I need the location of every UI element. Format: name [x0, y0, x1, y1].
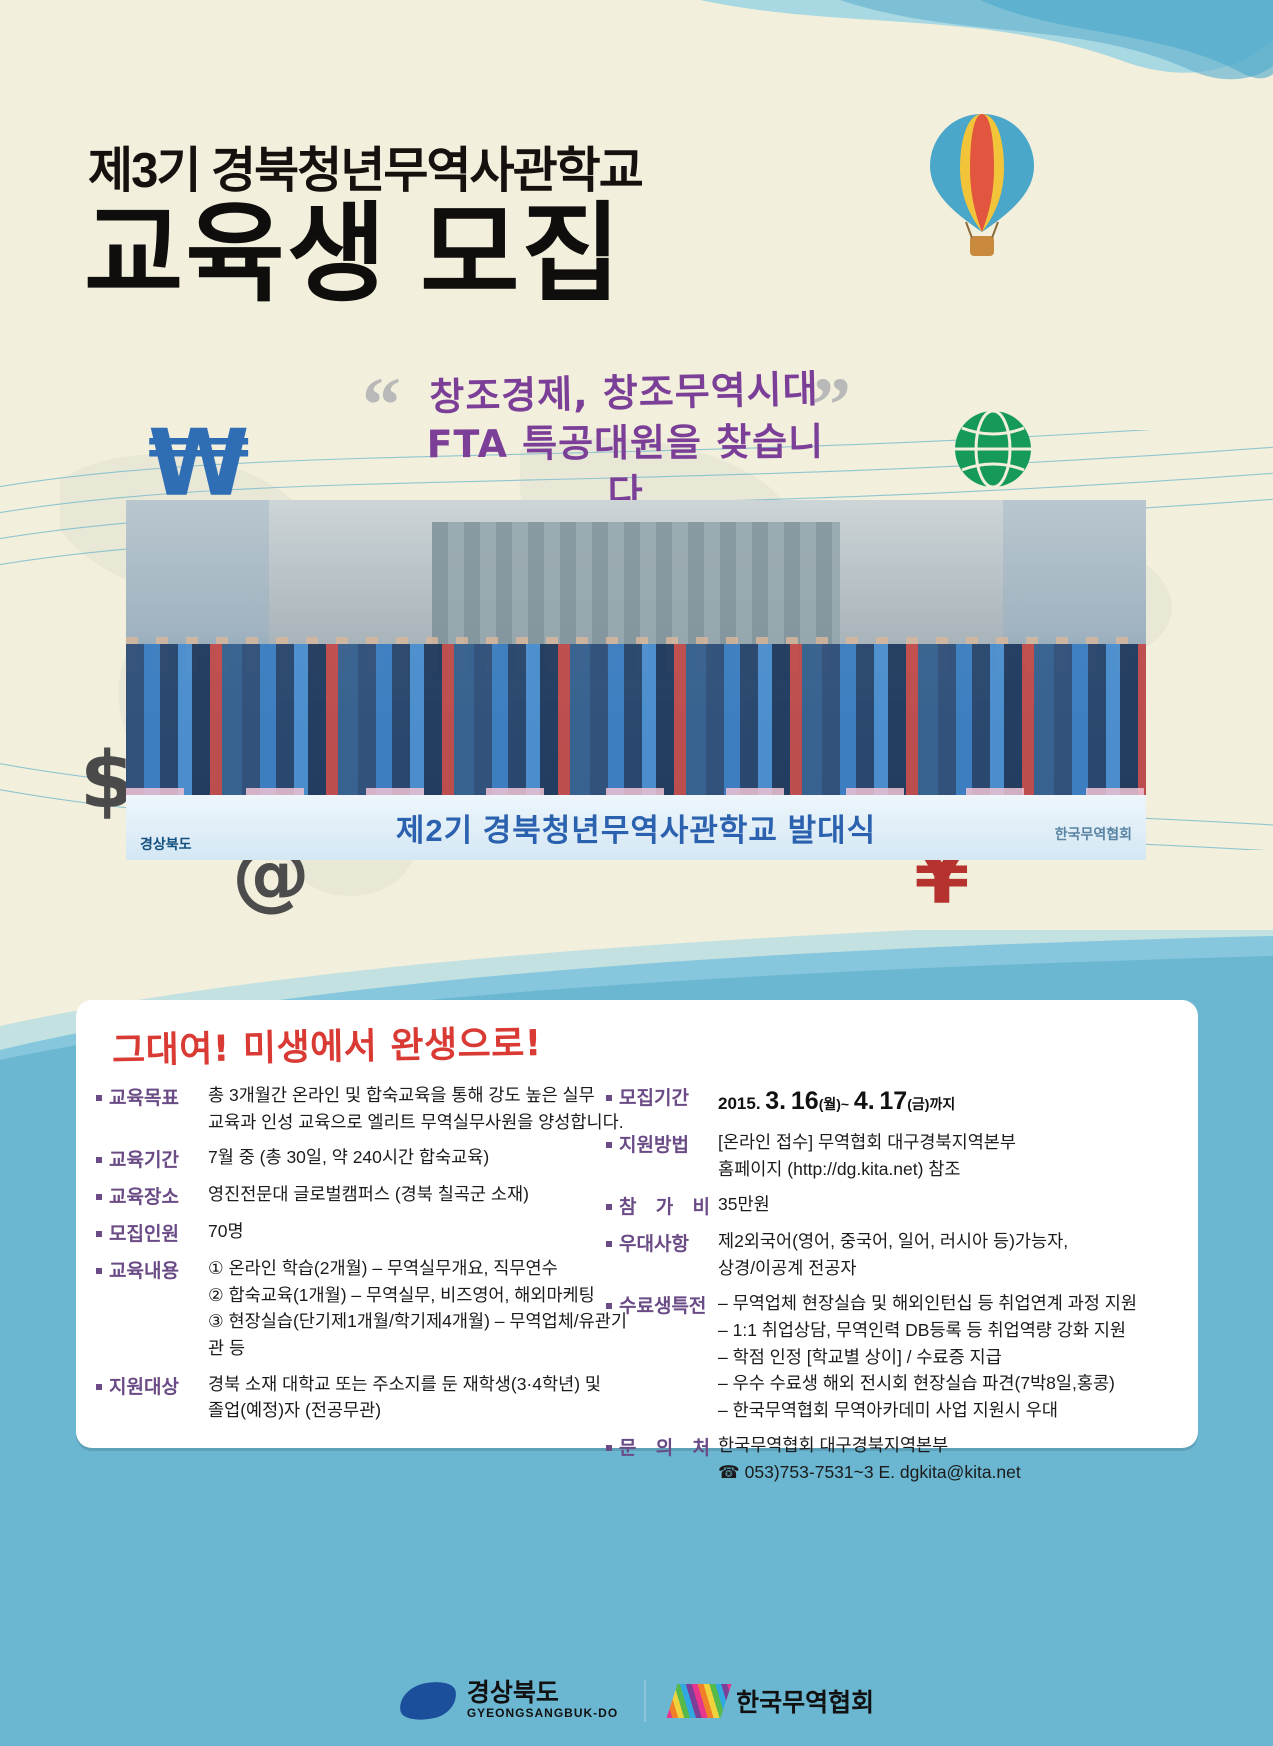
apply-homepage-link[interactable]: 홈페이지 (http://dg.kita.net) 참조 — [718, 1156, 1198, 1183]
info-body-goal: 총 3개월간 온라인 및 합숙교육을 통해 강도 높은 실무 교육과 인성 교육… — [208, 1082, 636, 1135]
info-body-period: 2015. 3. 16(월)~ 4. 17(금)까지 — [718, 1082, 1198, 1120]
info-body-duration: 7월 중 (총 30일, 약 240시간 합숙교육) — [208, 1144, 636, 1172]
bullet-icon — [96, 1384, 102, 1390]
info-row-benefits: 수료생특전 – 무역업체 현장실습 및 해외인턴십 등 취업연계 과정 지원 –… — [606, 1290, 1198, 1423]
bullet-icon — [96, 1095, 102, 1101]
bullet-icon — [606, 1204, 612, 1210]
period-end-day: 17 — [879, 1087, 907, 1115]
info-row-headcount: 모집인원 70명 — [96, 1218, 636, 1246]
info-body-apply-method: [온라인 접수] 무역협회 대구경북지역본부 홈페이지 (http://dg.k… — [718, 1129, 1198, 1182]
info-label-preference: 우대사항 — [606, 1228, 718, 1281]
globe-icon — [952, 408, 1034, 490]
info-label-goal: 교육목표 — [96, 1082, 208, 1135]
bullet-icon — [96, 1157, 102, 1163]
info-body-fee: 35만원 — [718, 1191, 1198, 1219]
info-label-contact: 문 의 처 — [606, 1432, 718, 1485]
event-photo: 제2기 경북청년무역사관학교 발대식 경상북도 한국무역협회 — [126, 500, 1146, 860]
info-label-benefits: 수료생특전 — [606, 1290, 718, 1423]
photo-logo-kita: 한국무역협회 — [1055, 824, 1132, 844]
info-label-period: 모집기간 — [606, 1082, 718, 1120]
period-start-day: 16 — [791, 1087, 819, 1115]
info-label-curriculum: 교육내용 — [96, 1255, 208, 1361]
info-label-duration: 교육기간 — [96, 1144, 208, 1172]
swoosh-icon — [396, 1677, 460, 1724]
poster-tagline: 창조경제, 창조무역시대 FTA 특공대원을 찾습니다 — [413, 364, 836, 523]
info-card: 그대여! 미생에서 완생으로! 교육목표 총 3개월간 온라인 및 합숙교육을 … — [76, 1000, 1198, 1448]
period-end-month: 4. — [854, 1087, 875, 1115]
bullet-icon — [606, 1303, 612, 1309]
info-row-venue: 교육장소 영진전문대 글로벌캠퍼스 (경북 칠곡군 소재) — [96, 1181, 636, 1209]
bullet-icon — [96, 1231, 102, 1237]
poster-headline: 교육생 모집 — [84, 196, 623, 313]
info-body-benefits: – 무역업체 현장실습 및 해외인턴십 등 취업연계 과정 지원 – 1:1 취… — [718, 1290, 1198, 1423]
poster-root: 제3기 경북청년무역사관학교 교육생 모집 “ ” 창조경제, 창조무역시대 F… — [0, 0, 1273, 1746]
poster-kicker: 제3기 경북청년무역사관학교 — [88, 131, 642, 202]
info-row-preference: 우대사항 제2외국어(영어, 중국어, 일어, 러시아 등)가능자, 상경/이공… — [606, 1228, 1198, 1281]
info-row-contact: 문 의 처 한국무역협회 대구경북지역본부 ☎ 053)753-7531~3 E… — [606, 1432, 1198, 1485]
info-body-headcount: 70명 — [208, 1218, 636, 1246]
info-body-preference: 제2외국어(영어, 중국어, 일어, 러시아 등)가능자, 상경/이공계 전공자 — [718, 1228, 1198, 1281]
rainbow-stripes-icon — [667, 1684, 732, 1718]
bullet-icon — [606, 1241, 612, 1247]
bullet-icon — [606, 1095, 612, 1101]
info-row-curriculum: 교육내용 ① 온라인 학습(2개월) – 무역실무개요, 직무연수 ② 합숙교육… — [96, 1255, 636, 1361]
info-label-fee: 참 가 비 — [606, 1191, 718, 1219]
hot-air-balloon-icon — [922, 110, 1042, 270]
gyeongbuk-logo-kr: 경상북도 — [467, 1681, 618, 1706]
info-label-eligibility: 지원대상 — [96, 1371, 208, 1424]
info-right-column: 모집기간 2015. 3. 16(월)~ 4. 17(금)까지 지원방법 [온라… — [606, 1082, 1198, 1495]
bullet-icon — [96, 1268, 102, 1274]
photo-logo-gyeongbuk: 경상북도 — [140, 834, 192, 854]
bullet-icon — [606, 1445, 612, 1451]
info-label-apply-method: 지원방법 — [606, 1129, 718, 1182]
tagline-line-1: 창조경제, 창조무역시대 — [413, 364, 834, 423]
bullet-icon — [96, 1194, 102, 1200]
info-label-headcount: 모집인원 — [96, 1218, 208, 1246]
info-left-column: 교육목표 총 3개월간 온라인 및 합숙교육을 통해 강도 높은 실무 교육과 … — [96, 1082, 636, 1433]
kita-logo: 한국무역협회 — [672, 1683, 874, 1719]
period-end-dow: (금) — [907, 1096, 929, 1112]
info-row-fee: 참 가 비 35만원 — [606, 1191, 1198, 1219]
gyeongbuk-logo-en: GYEONGSANGBUK-DO — [467, 1706, 618, 1720]
info-body-curriculum: ① 온라인 학습(2개월) – 무역실무개요, 직무연수 ② 합숙교육(1개월)… — [208, 1255, 636, 1361]
won-currency-icon: ₩ — [148, 418, 249, 510]
info-body-contact: 한국무역협회 대구경북지역본부 ☎ 053)753-7531~3 E. dgki… — [718, 1432, 1198, 1485]
footer-logos: 경상북도 GYEONGSANGBUK-DO 한국무역협회 — [0, 1655, 1273, 1746]
contact-phone-email[interactable]: ☎ 053)753-7531~3 E. dgkita@kita.net — [718, 1459, 1198, 1486]
period-year: 2015. — [718, 1094, 761, 1113]
gyeongsangbuk-do-logo: 경상북도 GYEONGSANGBUK-DO — [399, 1681, 618, 1720]
period-start-month: 3. — [765, 1087, 786, 1115]
info-row-eligibility: 지원대상 경북 소재 대학교 또는 주소지를 둔 재학생(3·4학년) 및 졸업… — [96, 1371, 636, 1424]
info-row-apply-method: 지원방법 [온라인 접수] 무역협회 대구경북지역본부 홈페이지 (http:/… — [606, 1129, 1198, 1182]
info-row-goal: 교육목표 총 3개월간 온라인 및 합숙교육을 통해 강도 높은 실무 교육과 … — [96, 1082, 636, 1135]
bullet-icon — [606, 1142, 612, 1148]
kita-logo-kr: 한국무역협회 — [736, 1683, 874, 1719]
period-start-dow: (월)~ — [819, 1096, 849, 1112]
info-row-duration: 교육기간 7월 중 (총 30일, 약 240시간 합숙교육) — [96, 1144, 636, 1172]
period-suffix: 까지 — [929, 1096, 955, 1112]
info-label-venue: 교육장소 — [96, 1181, 208, 1209]
photo-banner: 제2기 경북청년무역사관학교 발대식 경상북도 한국무역협회 — [126, 795, 1146, 860]
logo-divider — [644, 1680, 646, 1722]
info-body-venue: 영진전문대 글로벌캠퍼스 (경북 칠곡군 소재) — [208, 1181, 636, 1209]
info-card-title: 그대여! 미생에서 완생으로! — [112, 1014, 543, 1073]
info-row-period: 모집기간 2015. 3. 16(월)~ 4. 17(금)까지 — [606, 1082, 1198, 1120]
info-body-eligibility: 경북 소재 대학교 또는 주소지를 둔 재학생(3·4학년) 및 졸업(예정)자… — [208, 1371, 636, 1424]
photo-banner-text: 제2기 경북청년무역사관학교 발대식 — [396, 805, 876, 850]
quote-open-icon: “ — [362, 366, 401, 444]
